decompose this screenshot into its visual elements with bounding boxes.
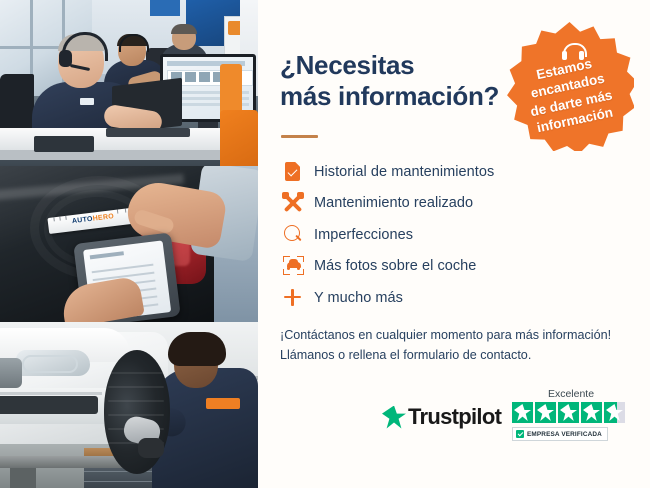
list-item: Mantenimiento realizado: [280, 188, 630, 220]
star-filled: [512, 402, 533, 423]
page-title: ¿Necesitas más información?: [280, 50, 520, 112]
trustpilot-star-rating: [512, 402, 625, 423]
bumper-air-intake: [0, 396, 98, 414]
feature-label: Imperfecciones: [314, 227, 413, 243]
mechanic-hair: [168, 332, 226, 366]
ruler-brand-autohero-part2: HERO: [92, 213, 114, 223]
car-grille: [0, 358, 22, 388]
call-center-agents-photo: [0, 0, 258, 166]
trustpilot-logo: Trustpilot: [382, 404, 501, 430]
status-badge: EMPRESA VERIFICADA: [512, 427, 608, 441]
desk-tablet: [34, 136, 94, 152]
help-badge: Estamos encantados de darte más informac…: [505, 22, 634, 151]
check-icon: [516, 430, 524, 438]
contact-paragraph: ¡Contáctanos en cualquier momento para m…: [280, 325, 640, 366]
workshop-wheel-photo: [0, 322, 258, 488]
star-filled: [558, 402, 579, 423]
car-frame-icon: [280, 254, 314, 278]
trustpilot-star-icon: [382, 406, 406, 429]
orange-chair: [220, 110, 258, 166]
promo-card: AUTOHERO: [0, 0, 650, 488]
contact-paragraph-line-2: Llámanos o rellena el formulario de cont…: [280, 345, 640, 365]
feature-label: Más fotos sobre el coche: [314, 258, 476, 274]
mechanic-glove: [138, 438, 164, 458]
trustpilot-wordmark: Trustpilot: [408, 404, 501, 430]
feature-label: Historial de mantenimientos: [314, 164, 494, 180]
list-item: Imperfecciones: [280, 219, 630, 251]
trustpilot-rating-label: Excelente: [512, 388, 630, 400]
crossed-tools-icon: [280, 191, 314, 215]
page-title-line-1: ¿Necesitas: [280, 50, 520, 81]
car-headlight: [16, 350, 90, 376]
uniform-logo: [206, 398, 240, 409]
car-inspection-photo: AUTOHERO: [0, 166, 258, 322]
star-partial: [604, 402, 625, 423]
chrome-trim: [0, 392, 102, 395]
office-chair: [0, 74, 34, 136]
photo-collage: AUTOHERO: [0, 0, 258, 488]
list-item: Historial de mantenimientos: [280, 156, 630, 188]
star-filled: [581, 402, 602, 423]
car-lift-post: [10, 468, 36, 488]
laptop-keyboard: [106, 128, 190, 137]
trustpilot-widget[interactable]: Trustpilot Excelente EMPRESA VERIFICADA: [382, 388, 630, 448]
magnifier-icon: [280, 223, 314, 247]
star-filled: [535, 402, 556, 423]
feature-label: Mantenimiento realizado: [314, 195, 473, 211]
page-title-line-2: más información?: [280, 81, 520, 112]
name-badge: [80, 98, 94, 105]
document-check-icon: [280, 160, 314, 184]
feature-list: Historial de mantenimientos Mantenimient…: [280, 156, 630, 314]
blue-wall-panel: [150, 0, 180, 16]
info-panel: ¿Necesitas más información? Estamos enca…: [258, 0, 650, 488]
ruler-brand-autohero-part1: AUTO: [72, 216, 94, 225]
plus-icon: [280, 286, 314, 310]
contact-paragraph-line-1: ¡Contáctanos en cualquier momento para m…: [280, 325, 640, 345]
feature-label: Y mucho más: [314, 290, 403, 306]
third-person-hair: [171, 24, 197, 34]
title-divider: [281, 135, 318, 138]
list-item: Y mucho más: [280, 282, 630, 314]
car-lift-arm: [0, 456, 130, 468]
list-item: Más fotos sobre el coche: [280, 251, 630, 283]
verified-company-label: EMPRESA VERIFICADA: [527, 431, 602, 438]
